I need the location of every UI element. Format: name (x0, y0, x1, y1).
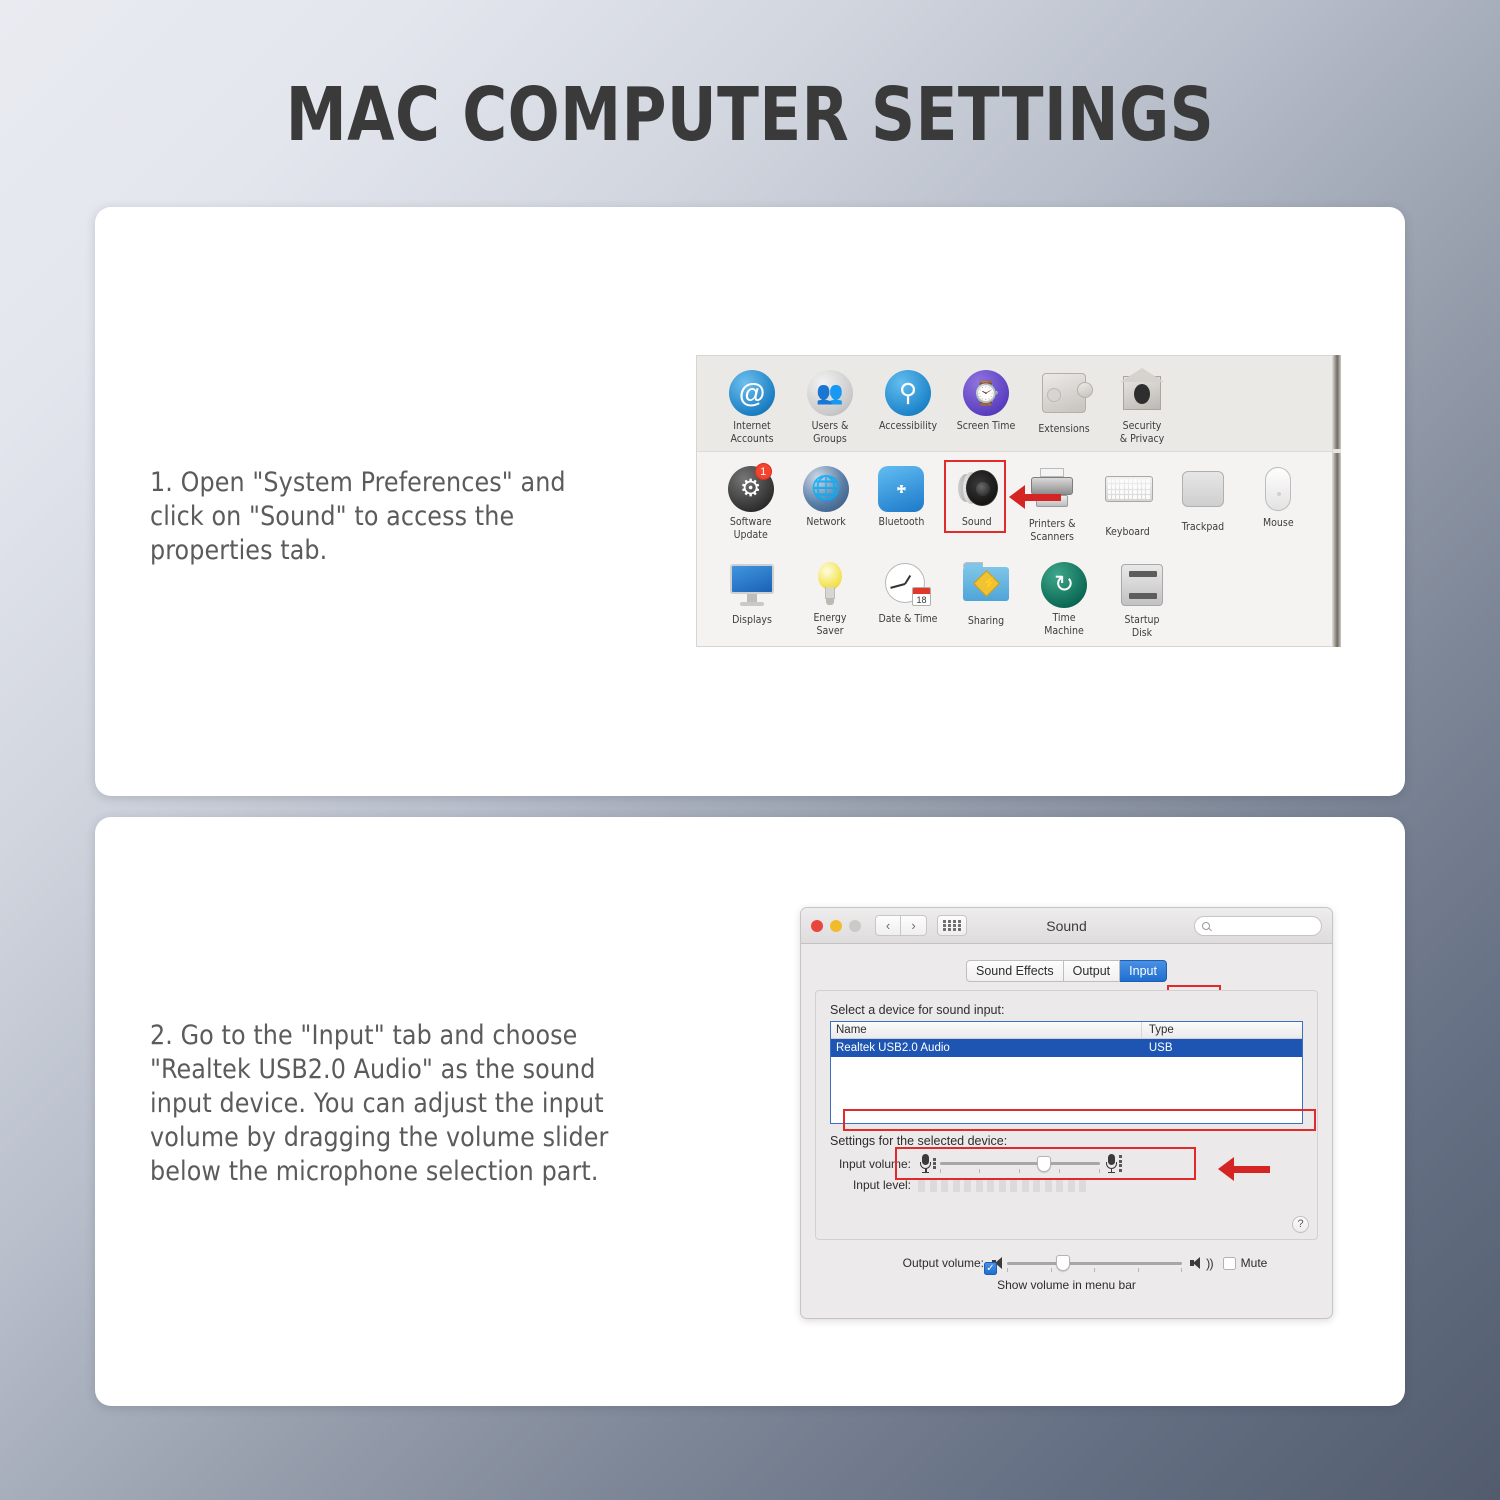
pref-label: Screen Time (947, 420, 1025, 433)
maximize-icon[interactable] (849, 920, 861, 932)
prefs-panel-edge (1333, 355, 1341, 647)
pref-item-screen-time[interactable]: ⌚ Screen Time (947, 368, 1025, 443)
input-level-segment (964, 1179, 971, 1192)
minimize-icon[interactable] (830, 920, 842, 932)
back-icon[interactable]: ‹ (875, 915, 901, 936)
pref-item-time-machine[interactable]: ↻ Time Machine (1025, 560, 1103, 638)
software-update-icon: ⚙ 1 (728, 466, 774, 512)
input-level-segment (1010, 1179, 1017, 1192)
sharing-icon (963, 565, 1009, 611)
sound-pointer-arrow (1009, 485, 1061, 509)
device-list[interactable]: Name Type Realtek USB2.0 Audio USB (830, 1021, 1303, 1124)
pref-label: Startup Disk (1103, 614, 1181, 639)
column-header-type: Type (1142, 1022, 1302, 1038)
output-volume-slider[interactable] (1007, 1254, 1182, 1272)
speaker-waves-icon: )) (1206, 1256, 1213, 1271)
show-all-grid-icon[interactable] (937, 915, 967, 936)
input-level-meter (918, 1179, 1086, 1192)
sound-icon (954, 466, 1000, 512)
prefs-row-1: @ Internet Accounts 👥 Users & Groups ⚲ A… (697, 356, 1332, 452)
input-level-segment (1068, 1179, 1075, 1192)
system-preferences-panel: @ Internet Accounts 👥 Users & Groups ⚲ A… (696, 355, 1333, 647)
pref-label: Bluetooth (864, 516, 939, 529)
page-title: MAC COMPUTER SETTINGS (60, 78, 1440, 152)
displays-icon (729, 564, 775, 610)
startup-disk-icon (1119, 564, 1165, 610)
internet-accounts-icon: @ (729, 370, 775, 416)
users-groups-icon: 👥 (807, 370, 853, 416)
input-level-segment (930, 1179, 937, 1192)
screen-time-icon: ⌚ (963, 370, 1009, 416)
show-volume-label: Show volume in menu bar (997, 1278, 1136, 1292)
pref-item-accessibility[interactable]: ⚲ Accessibility (869, 368, 947, 443)
search-input[interactable] (1194, 916, 1322, 936)
mic-max-dots-icon (1119, 1155, 1122, 1172)
sound-settings-window: ‹ › Sound Sound Effects Output Input Sel… (800, 907, 1333, 1319)
close-icon[interactable] (811, 920, 823, 932)
pref-item-mouse[interactable]: Mouse (1241, 464, 1316, 540)
input-level-label: Input level: (830, 1178, 918, 1192)
pref-label: Internet Accounts (713, 420, 791, 445)
step-2-card: 2. Go to the "Input" tab and choose "Rea… (95, 817, 1405, 1406)
pref-label: Users & Groups (791, 420, 869, 445)
input-settings-pane: Select a device for sound input: Name Ty… (815, 990, 1318, 1240)
input-level-segment (1033, 1179, 1040, 1192)
pref-label: Mouse (1241, 517, 1316, 530)
tabbar: Sound Effects Output Input (801, 944, 1332, 982)
pref-item-internet-accounts[interactable]: @ Internet Accounts (713, 368, 791, 443)
mouse-icon (1255, 467, 1301, 513)
settings-for-device-label: Settings for the selected device: (830, 1134, 1303, 1148)
date-time-icon: 18 (885, 563, 931, 609)
pref-label: Displays (713, 614, 791, 627)
time-machine-icon: ↻ (1041, 562, 1087, 608)
tab-group: Sound Effects Output Input (966, 960, 1167, 982)
pref-label: Sound (939, 516, 1014, 529)
input-level-segment (941, 1179, 948, 1192)
pref-label: Security & Privacy (1103, 420, 1181, 445)
select-device-label: Select a device for sound input: (830, 1003, 1303, 1017)
pref-label: Network (788, 516, 863, 529)
pref-item-date-time[interactable]: 18 Date & Time (869, 560, 947, 638)
search-icon (1202, 922, 1210, 930)
pref-label: Trackpad (1165, 521, 1240, 534)
pref-item-keyboard[interactable]: Keyboard (1090, 464, 1165, 540)
pref-item-trackpad[interactable]: Trackpad (1165, 464, 1240, 540)
device-type: USB (1142, 1042, 1302, 1054)
pref-label: Energy Saver (791, 612, 869, 637)
input-volume-slider[interactable] (940, 1155, 1100, 1173)
slider-ticks (940, 1169, 1100, 1173)
pref-label: Software Update (713, 516, 788, 541)
slider-thumb[interactable] (1037, 1156, 1051, 1172)
trackpad-icon (1180, 471, 1226, 517)
mute-checkbox[interactable] (1223, 1257, 1236, 1270)
input-level-segment (1079, 1179, 1086, 1192)
input-level-segment (999, 1179, 1006, 1192)
pref-label: Printers & Scanners (1015, 518, 1090, 543)
step-2-text: 2. Go to the "Input" tab and choose "Rea… (150, 1019, 630, 1189)
pref-item-network[interactable]: 🌐 Network (788, 464, 863, 540)
tab-sound-effects[interactable]: Sound Effects (966, 960, 1064, 982)
bluetooth-icon: ᛭ (878, 466, 924, 512)
pref-label: Accessibility (869, 420, 947, 433)
security-privacy-icon (1119, 370, 1165, 416)
prefs-row-3: Displays Energy Saver 18 Date & Time (697, 548, 1332, 646)
mic-min-dots-icon (933, 1158, 936, 1169)
tab-output[interactable]: Output (1064, 960, 1121, 982)
microphone-small-icon (920, 1154, 931, 1173)
input-level-segment (1056, 1179, 1063, 1192)
mute-label: Mute (1241, 1256, 1268, 1270)
show-volume-checkbox-wrap: ✓ (984, 1262, 997, 1275)
table-row[interactable]: Realtek USB2.0 Audio USB (831, 1039, 1302, 1057)
traffic-lights (811, 920, 861, 932)
input-volume-label: Input volume: (830, 1157, 918, 1171)
slider-ticks (1007, 1268, 1182, 1272)
nav-buttons: ‹ › (875, 915, 927, 936)
pref-label: Date & Time (869, 613, 947, 626)
column-header-name: Name (831, 1022, 1142, 1038)
pref-item-security-privacy[interactable]: Security & Privacy (1103, 368, 1181, 443)
input-level-segment (953, 1179, 960, 1192)
output-volume-label: Output volume: (801, 1256, 991, 1270)
pref-item-displays[interactable]: Displays (713, 560, 791, 638)
pref-label: Keyboard (1090, 526, 1165, 539)
pref-item-bluetooth[interactable]: ᛭ Bluetooth (864, 464, 939, 540)
tab-input[interactable]: Input (1120, 960, 1167, 982)
slider-track (1007, 1262, 1182, 1265)
slider-track (940, 1162, 1100, 1165)
slider-thumb[interactable] (1056, 1255, 1070, 1271)
pref-item-extensions[interactable]: Extensions (1025, 368, 1103, 443)
accessibility-icon: ⚲ (885, 370, 931, 416)
pref-label: Sharing (947, 615, 1025, 628)
pref-item-sound[interactable]: Sound (939, 464, 1014, 540)
pref-item-energy-saver[interactable]: Energy Saver (791, 560, 869, 638)
show-volume-row: ✓ Show volume in menu bar (801, 1278, 1332, 1292)
input-level-segment (1022, 1179, 1029, 1192)
network-icon: 🌐 (803, 466, 849, 512)
pref-item-sharing[interactable]: Sharing (947, 560, 1025, 638)
input-level-segment (918, 1179, 925, 1192)
help-button[interactable]: ? (1292, 1216, 1309, 1233)
pref-label: Time Machine (1025, 612, 1103, 637)
output-volume-row: Output volume: )) Mute (801, 1254, 1332, 1272)
energy-saver-icon (807, 562, 853, 608)
input-level-segment (976, 1179, 983, 1192)
device-name: Realtek USB2.0 Audio (831, 1042, 1142, 1054)
pref-item-software-update[interactable]: ⚙ 1 Software Update (713, 464, 788, 540)
device-table-header: Name Type (831, 1022, 1302, 1039)
keyboard-icon (1105, 476, 1151, 522)
update-badge: 1 (755, 463, 772, 480)
forward-icon[interactable]: › (901, 915, 927, 936)
step-1-card: 1. Open "System Preferences" and click o… (95, 207, 1405, 796)
input-volume-pointer-arrow (1218, 1157, 1270, 1181)
step-1-text: 1. Open "System Preferences" and click o… (150, 466, 620, 568)
pref-item-startup-disk[interactable]: Startup Disk (1103, 560, 1181, 638)
pref-label: Extensions (1025, 423, 1103, 436)
show-volume-checkbox[interactable]: ✓ (984, 1262, 997, 1275)
extensions-icon (1041, 373, 1087, 419)
speaker-max-icon (1189, 1256, 1203, 1270)
window-titlebar: ‹ › Sound (801, 908, 1332, 944)
input-level-segment (1045, 1179, 1052, 1192)
input-level-segment (987, 1179, 994, 1192)
pref-item-users-groups[interactable]: 👥 Users & Groups (791, 368, 869, 443)
microphone-large-icon (1106, 1154, 1117, 1173)
